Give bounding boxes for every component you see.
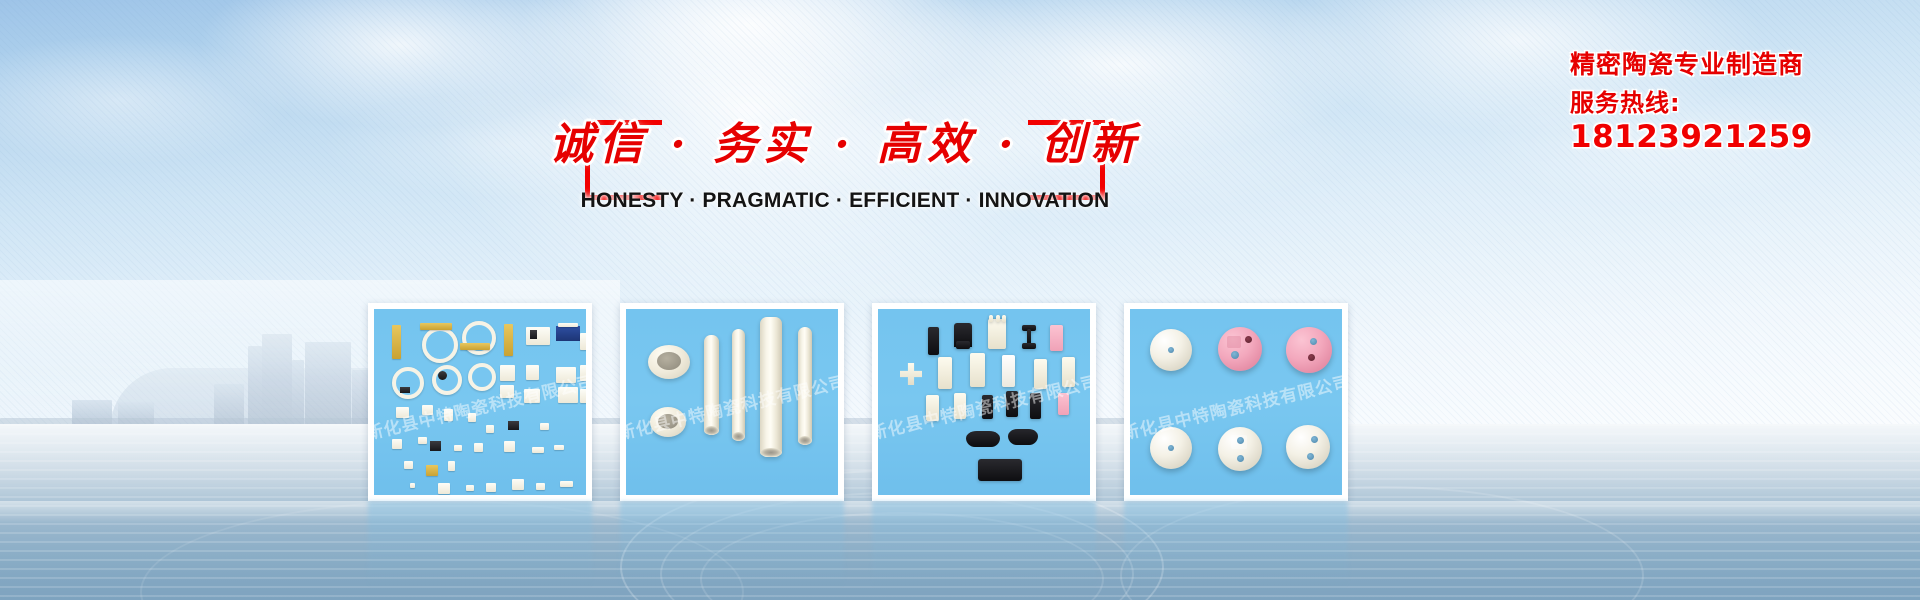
slogan-chinese: 诚信 · 务实 · 高效 · 创新 [549, 108, 1141, 172]
product-photo: 新化县中特陶瓷科技有限公司 [878, 309, 1090, 495]
product-panel-strip: 新化县中特陶瓷科技有限公司 [368, 303, 1348, 501]
hotline-number[interactable]: 18123921259 [1570, 120, 1910, 154]
hotline-label: 服务热线: [1570, 91, 1910, 116]
product-panel-ceramic-tubes[interactable]: 新化县中特陶瓷科技有限公司 [620, 303, 844, 501]
product-photo: 新化县中特陶瓷科技有限公司 [1130, 309, 1342, 495]
product-photo: 新化县中特陶瓷科技有限公司 [626, 309, 838, 495]
hero-banner: 诚信 · 务实 · 高效 · 创新 HONESTY · PRAGMATIC · … [0, 0, 1920, 600]
company-tagline: 精密陶瓷专业制造商 [1570, 52, 1910, 78]
product-panel-ceramic-blocks[interactable]: 新化县中特陶瓷科技有限公司 [872, 303, 1096, 501]
contact-block: 精密陶瓷专业制造商 服务热线: 18123921259 [1570, 52, 1910, 155]
product-panel-smd-components[interactable]: 新化县中特陶瓷科技有限公司 [368, 303, 592, 501]
slogan-block: 诚信 · 务实 · 高效 · 创新 HONESTY · PRAGMATIC · … [585, 120, 1105, 200]
product-photo: 新化县中特陶瓷科技有限公司 [374, 309, 586, 495]
slogan-english: HONESTY · PRAGMATIC · EFFICIENT · INNOVA… [581, 189, 1110, 213]
product-panel-ceramic-discs[interactable]: 新化县中特陶瓷科技有限公司 [1124, 303, 1348, 501]
